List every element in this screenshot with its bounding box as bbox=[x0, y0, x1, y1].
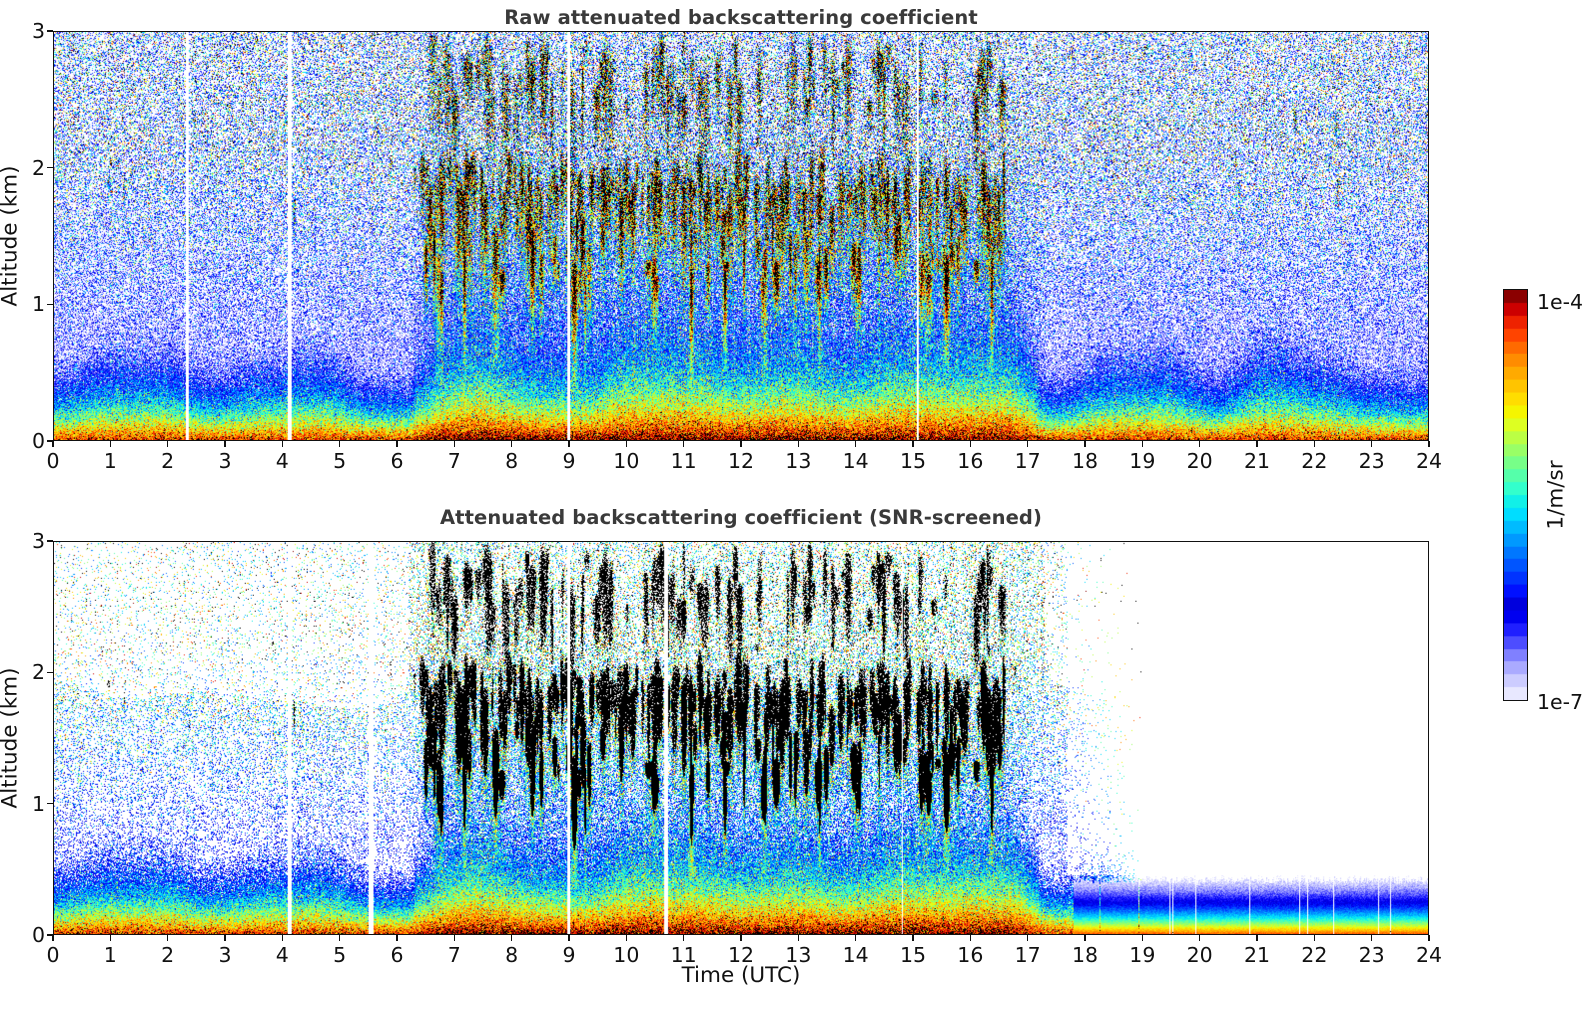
colorbar-max-label: 1e-4 bbox=[1537, 290, 1583, 314]
x-tick bbox=[568, 441, 569, 447]
x-tick bbox=[1428, 441, 1429, 447]
x-tick-label: 8 bbox=[505, 943, 518, 967]
x-tick bbox=[798, 935, 799, 941]
x-tick-label: 11 bbox=[671, 449, 697, 473]
x-tick bbox=[167, 441, 168, 447]
x-tick-label: 16 bbox=[957, 943, 983, 967]
y-tick bbox=[47, 540, 53, 541]
x-tick bbox=[454, 441, 455, 447]
x-tick-label: 6 bbox=[390, 449, 403, 473]
x-tick-label: 14 bbox=[843, 943, 869, 967]
x-tick bbox=[912, 441, 913, 447]
x-tick-label: 10 bbox=[613, 449, 639, 473]
x-tick-label: 8 bbox=[505, 449, 518, 473]
x-tick bbox=[396, 935, 397, 941]
x-tick-label: 3 bbox=[218, 449, 231, 473]
x-tick bbox=[1371, 441, 1372, 447]
x-tick bbox=[1027, 441, 1028, 447]
x-tick bbox=[339, 441, 340, 447]
x-tick bbox=[1428, 935, 1429, 941]
x-tick bbox=[568, 935, 569, 941]
x-tick-label: 5 bbox=[333, 943, 346, 967]
x-tick bbox=[626, 441, 627, 447]
lidar-figure: Raw attenuated backscattering coefficien… bbox=[0, 0, 1595, 1020]
x-tick bbox=[110, 935, 111, 941]
y-tick bbox=[47, 30, 53, 31]
x-tick-label: 18 bbox=[1072, 449, 1098, 473]
x-tick-label: 21 bbox=[1244, 943, 1270, 967]
y-axis-label-raw: Altitude (km) bbox=[0, 165, 23, 306]
x-tick bbox=[970, 935, 971, 941]
x-tick bbox=[282, 935, 283, 941]
x-tick-label: 13 bbox=[785, 943, 811, 967]
x-tick bbox=[1199, 935, 1200, 941]
y-tick-label: 0 bbox=[19, 923, 45, 947]
x-tick bbox=[110, 441, 111, 447]
x-tick bbox=[52, 935, 53, 941]
x-tick-label: 13 bbox=[785, 449, 811, 473]
x-tick bbox=[798, 441, 799, 447]
x-tick bbox=[224, 441, 225, 447]
x-tick-label: 7 bbox=[448, 943, 461, 967]
x-tick-label: 18 bbox=[1072, 943, 1098, 967]
x-tick bbox=[1199, 441, 1200, 447]
x-tick-label: 15 bbox=[900, 943, 926, 967]
x-tick-label: 12 bbox=[728, 449, 754, 473]
x-tick bbox=[454, 935, 455, 941]
x-tick-label: 5 bbox=[333, 449, 346, 473]
x-tick bbox=[740, 935, 741, 941]
x-tick-label: 24 bbox=[1416, 943, 1442, 967]
x-tick-label: 1 bbox=[104, 943, 117, 967]
x-tick bbox=[683, 441, 684, 447]
x-tick bbox=[339, 935, 340, 941]
x-tick bbox=[1314, 441, 1315, 447]
colorbar-min-label: 1e-7 bbox=[1537, 690, 1583, 714]
x-tick bbox=[1256, 935, 1257, 941]
y-tick bbox=[47, 167, 53, 168]
x-tick bbox=[912, 935, 913, 941]
x-tick bbox=[1314, 935, 1315, 941]
x-tick-label: 19 bbox=[1129, 943, 1155, 967]
x-tick-label: 22 bbox=[1301, 449, 1327, 473]
x-tick-label: 20 bbox=[1187, 943, 1213, 967]
x-tick-label: 10 bbox=[613, 943, 639, 967]
x-tick-label: 22 bbox=[1301, 943, 1327, 967]
x-tick bbox=[1142, 441, 1143, 447]
x-tick-label: 4 bbox=[276, 943, 289, 967]
x-tick-label: 14 bbox=[843, 449, 869, 473]
x-tick bbox=[282, 441, 283, 447]
x-tick bbox=[511, 441, 512, 447]
heatmap-panel-screened bbox=[53, 541, 1429, 935]
x-tick-label: 7 bbox=[448, 449, 461, 473]
x-tick-label: 0 bbox=[46, 943, 59, 967]
x-tick-label: 2 bbox=[161, 943, 174, 967]
y-tick-label: 0 bbox=[19, 429, 45, 453]
y-tick bbox=[47, 304, 53, 305]
panel-title-raw: Raw attenuated backscattering coefficien… bbox=[53, 6, 1429, 29]
x-tick bbox=[167, 935, 168, 941]
panel-title-screened: Attenuated backscattering coefficient (S… bbox=[53, 506, 1429, 529]
x-tick-label: 17 bbox=[1015, 449, 1041, 473]
x-tick-label: 23 bbox=[1359, 943, 1385, 967]
x-tick bbox=[52, 441, 53, 447]
x-tick-label: 24 bbox=[1416, 449, 1442, 473]
y-tick bbox=[47, 803, 53, 804]
x-tick bbox=[970, 441, 971, 447]
x-tick-label: 1 bbox=[104, 449, 117, 473]
heatmap-panel-raw bbox=[53, 31, 1429, 441]
x-tick-label: 15 bbox=[900, 449, 926, 473]
x-tick-label: 9 bbox=[562, 449, 575, 473]
x-tick-label: 16 bbox=[957, 449, 983, 473]
x-tick bbox=[855, 935, 856, 941]
y-tick-label: 2 bbox=[19, 156, 45, 180]
x-tick bbox=[396, 441, 397, 447]
x-tick bbox=[1256, 441, 1257, 447]
x-tick-label: 6 bbox=[390, 943, 403, 967]
y-tick-label: 2 bbox=[19, 660, 45, 684]
x-tick-label: 4 bbox=[276, 449, 289, 473]
y-tick bbox=[47, 934, 53, 935]
x-tick bbox=[511, 935, 512, 941]
x-tick-label: 21 bbox=[1244, 449, 1270, 473]
x-tick bbox=[1027, 935, 1028, 941]
y-tick-label: 3 bbox=[19, 19, 45, 43]
x-tick-label: 0 bbox=[46, 449, 59, 473]
x-tick-label: 9 bbox=[562, 943, 575, 967]
x-tick bbox=[626, 935, 627, 941]
x-tick-label: 2 bbox=[161, 449, 174, 473]
y-tick bbox=[47, 672, 53, 673]
y-tick bbox=[47, 440, 53, 441]
x-tick bbox=[740, 441, 741, 447]
x-tick bbox=[1371, 935, 1372, 941]
x-tick-label: 20 bbox=[1187, 449, 1213, 473]
x-tick-label: 19 bbox=[1129, 449, 1155, 473]
x-tick-label: 11 bbox=[671, 943, 697, 967]
colorbar bbox=[1503, 289, 1528, 701]
x-tick bbox=[1084, 935, 1085, 941]
x-tick bbox=[683, 935, 684, 941]
y-axis-label-screened: Altitude (km) bbox=[0, 667, 23, 808]
y-tick-label: 1 bbox=[19, 792, 45, 816]
y-tick-label: 3 bbox=[19, 529, 45, 553]
y-tick-label: 1 bbox=[19, 292, 45, 316]
x-tick bbox=[224, 935, 225, 941]
x-tick-label: 17 bbox=[1015, 943, 1041, 967]
x-tick bbox=[1142, 935, 1143, 941]
x-tick bbox=[1084, 441, 1085, 447]
x-tick-label: 23 bbox=[1359, 449, 1385, 473]
x-tick-label: 3 bbox=[218, 943, 231, 967]
colorbar-unit-label: 1/m/sr bbox=[1544, 460, 1569, 529]
x-tick bbox=[855, 441, 856, 447]
x-tick-label: 12 bbox=[728, 943, 754, 967]
